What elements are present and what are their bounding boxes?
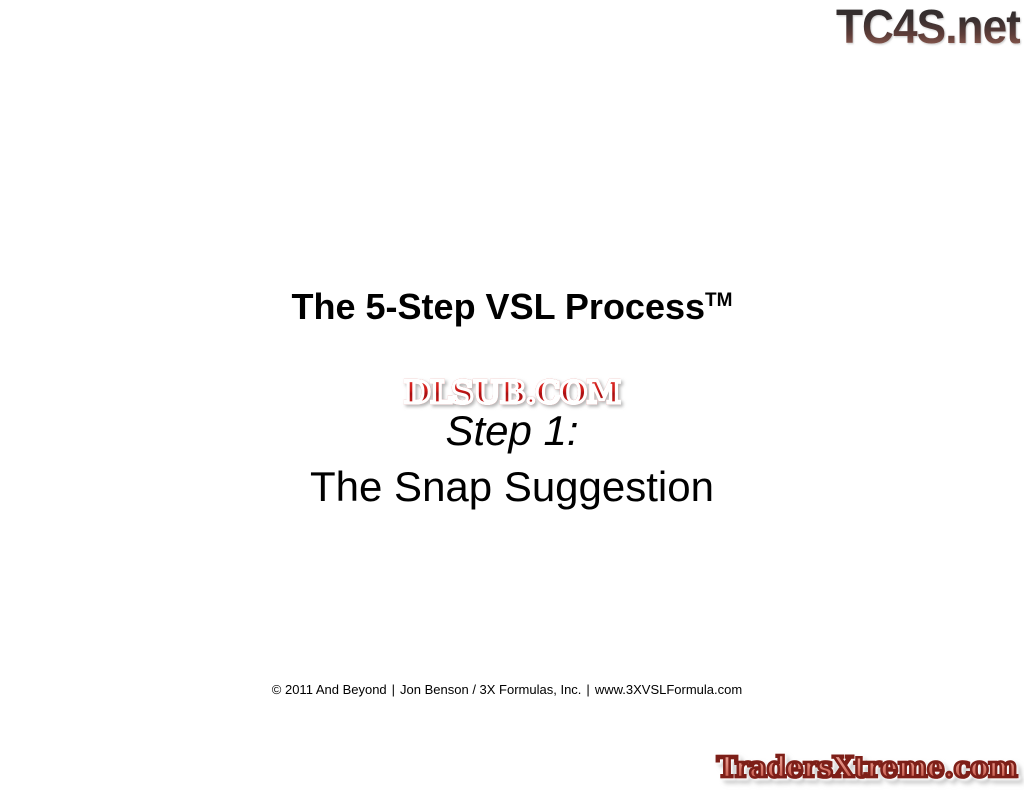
footer-copyright: © 2011 And Beyond xyxy=(272,682,387,697)
trademark-symbol: TM xyxy=(705,290,732,311)
footer-website: www.3XVSLFormula.com xyxy=(595,682,742,697)
footer-separator-2: | xyxy=(581,682,594,697)
subtitle-step-name: The Snap Suggestion xyxy=(0,462,1024,512)
presentation-slide: TC4S.net The 5-Step VSL ProcessTM DLSUB.… xyxy=(0,0,1024,791)
tc4s-net-logo: TC4S.net xyxy=(836,2,1020,54)
tradersxtreme-com-logo: TradersXtreme.com xyxy=(711,747,1022,787)
slide-title-text: The 5-Step VSL Process xyxy=(292,286,706,327)
footer-credit-line: © 2011 And Beyond|Jon Benson / 3X Formul… xyxy=(0,681,1019,699)
footer-author: Jon Benson / 3X Formulas, Inc. xyxy=(400,682,581,697)
footer-separator-1: | xyxy=(387,682,400,697)
slide-title: The 5-Step VSL ProcessTM xyxy=(0,279,1024,329)
tradersxtreme-com-logo-text: TradersXtreme.com xyxy=(716,750,1017,784)
subtitle-step-label: Step 1: xyxy=(0,406,1024,456)
